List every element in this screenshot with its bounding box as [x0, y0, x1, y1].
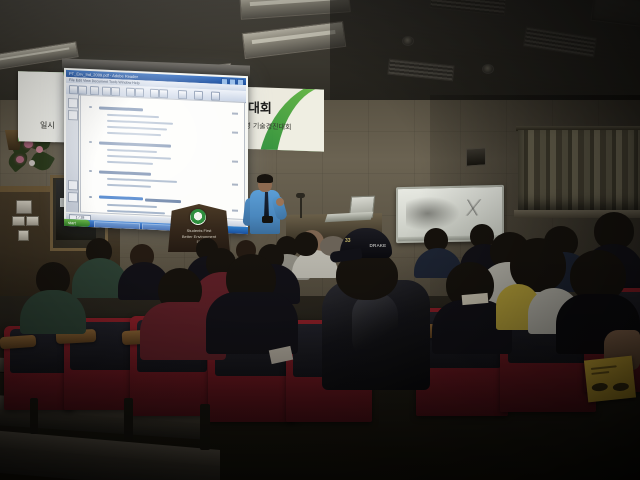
whiteboard-markings	[462, 199, 484, 215]
toc-page-number	[232, 160, 238, 162]
podium-line-1: Students First	[176, 228, 222, 233]
toc-item	[107, 184, 151, 188]
toc-item	[107, 178, 177, 183]
zoom-out-icon[interactable]	[102, 87, 111, 96]
wall-jack-plate[interactable]	[18, 230, 29, 241]
cap-logo: 33	[345, 238, 351, 244]
audience-shoulders	[206, 292, 298, 354]
cap-text: DRAKE	[364, 243, 392, 248]
wall-outlet-plate[interactable]	[26, 216, 39, 226]
attachments-icon[interactable]	[68, 180, 78, 190]
pdf-page-content[interactable]	[80, 95, 245, 220]
wall-switch-plate[interactable]	[16, 200, 32, 214]
yellow-booklet[interactable]	[584, 356, 636, 403]
bookmarks-icon[interactable]	[68, 98, 78, 108]
toc-page-number	[232, 183, 238, 185]
select-tool-icon[interactable]	[126, 88, 135, 97]
toc-page-number	[232, 209, 238, 211]
save-icon[interactable]	[90, 86, 99, 95]
toc-item	[107, 114, 159, 118]
audience-head	[294, 232, 318, 256]
microphone-stand	[300, 196, 302, 218]
zoom-in-icon[interactable]	[111, 87, 120, 96]
seat-armrest	[0, 335, 36, 349]
seat-leg	[200, 404, 210, 450]
start-button[interactable]: start	[64, 219, 90, 227]
toc-item	[107, 161, 153, 165]
wall-outlet-plate[interactable]	[12, 216, 25, 226]
signatures-icon[interactable]	[68, 192, 78, 202]
seat-leg	[124, 398, 133, 440]
toc-section-heading	[99, 106, 143, 111]
prev-page-icon[interactable]	[150, 89, 159, 98]
podium-emblem-icon	[190, 209, 206, 225]
hand-tool-icon[interactable]	[135, 88, 144, 97]
podium-line-2: Better Environment	[176, 234, 222, 239]
toc-number	[89, 170, 92, 172]
projection-screen: PT_Env_Ind_2009.pdf - Adobe Reader File …	[64, 68, 248, 234]
microphone-icon	[296, 193, 305, 198]
lecture-hall-photo: 2 일시 술대회 환경 기술경진대회 PT_Env_Ind_2009.pdf -…	[0, 0, 640, 480]
toc-number	[89, 141, 92, 143]
toc-item	[107, 120, 173, 125]
banner-korean-label: 일시	[40, 120, 55, 131]
wall-mounted-speaker	[466, 147, 486, 166]
presenter-hand	[276, 198, 284, 206]
jacket-highlight	[352, 292, 398, 362]
toc-item	[107, 126, 167, 131]
toc-number	[89, 196, 92, 198]
toc-item	[107, 155, 171, 160]
toc-item	[107, 149, 157, 153]
window-curtain[interactable]	[518, 130, 640, 212]
search-icon[interactable]	[178, 90, 187, 99]
fit-page-icon[interactable]	[211, 91, 220, 100]
rotate-icon[interactable]	[194, 91, 203, 100]
toc-page-number	[232, 131, 238, 133]
toc-item	[107, 210, 165, 215]
next-page-icon[interactable]	[159, 89, 168, 98]
toc-number	[89, 106, 92, 108]
toc-section-heading	[99, 141, 171, 147]
toc-item	[107, 132, 161, 136]
toc-section-heading	[145, 199, 181, 203]
navigation-sidebar[interactable]	[66, 94, 79, 213]
toc-section-heading	[99, 170, 151, 175]
whiteboard-shadow	[406, 196, 460, 231]
open-icon[interactable]	[69, 85, 78, 94]
print-icon[interactable]	[78, 85, 87, 94]
toc-item	[107, 204, 157, 208]
seat-leg	[30, 398, 38, 434]
toc-page-number	[232, 112, 238, 114]
pages-icon[interactable]	[68, 110, 78, 120]
presenter-hair	[257, 174, 273, 183]
presenter-remote-pointer[interactable]	[262, 216, 273, 223]
toc-selected-heading[interactable]	[99, 195, 143, 200]
